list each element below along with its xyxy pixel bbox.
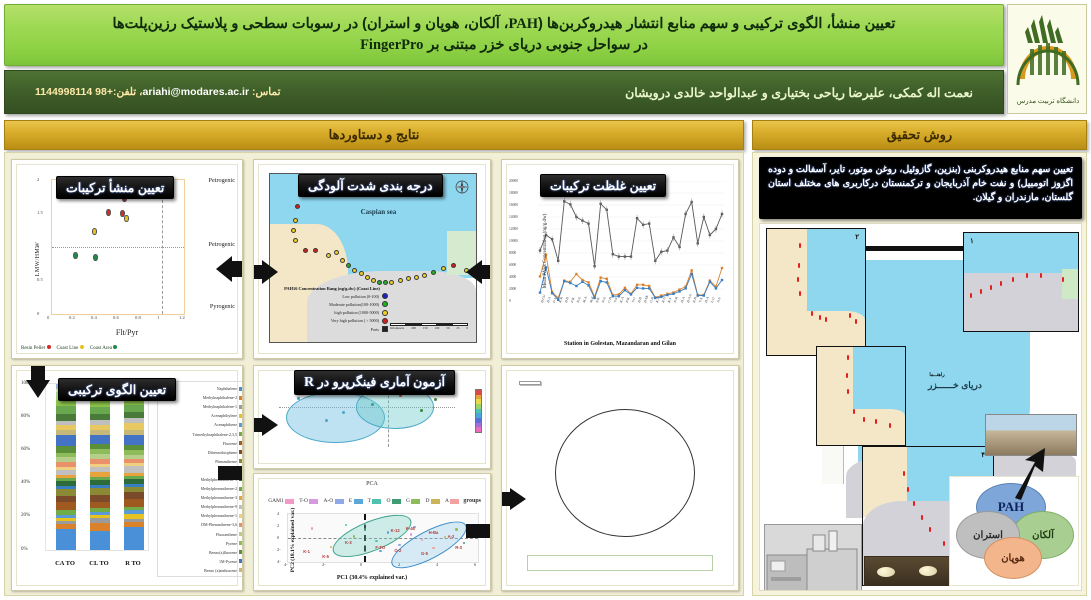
legend-label: G xyxy=(406,498,410,504)
legend-swatch xyxy=(382,293,388,299)
plaque-composition: تعیین الگوی ترکیبی xyxy=(58,378,176,401)
inset-number-1: ۱ xyxy=(970,237,974,245)
legend-swatch xyxy=(239,487,243,491)
y-tick: 40% xyxy=(21,480,30,485)
legend-label: 3-Methylphenanthrene xyxy=(201,495,237,500)
caspian-sea-label-fa: دریای خــــــزر xyxy=(928,380,982,391)
scatter-plot-area xyxy=(51,179,185,315)
x-tick: S-K xyxy=(595,297,600,303)
legend-item: 1-Methylphenanthrene xyxy=(159,511,243,520)
legend-item: Fluoranthene xyxy=(159,530,243,539)
map-legend-item: Ports xyxy=(276,326,388,332)
pca-annotation: A-2 xyxy=(448,534,455,539)
legend-label: Acenaphthene xyxy=(214,422,237,427)
legend-label: D xyxy=(425,498,429,504)
legend-label: Pyrene xyxy=(226,541,237,546)
scatter-point xyxy=(106,209,111,216)
legend-label: GAM1 xyxy=(268,498,284,504)
legend-swatch xyxy=(47,345,51,349)
bar-category-label: CA TO xyxy=(49,560,81,567)
pca-legend-item: GAM1 xyxy=(268,498,294,504)
poster-title-bar: تعیین منشأ، الگوی ترکیبی و سهم منابع انت… xyxy=(4,4,1004,66)
legend-label: Resin Pellet xyxy=(21,346,45,351)
legend-label: high pollution (1000-5000) xyxy=(334,310,379,315)
colorbar xyxy=(475,389,482,433)
pca-annotation: H-Ba xyxy=(429,530,439,535)
map-frame: Caspian sea PAH16 Concentration Rang (ng… xyxy=(269,173,477,343)
stacked-bar-plot-area xyxy=(45,383,149,551)
y-tick: 20% xyxy=(21,513,30,518)
bar-segment xyxy=(56,529,76,550)
x-tick: 1.2 xyxy=(179,315,185,320)
pca-point xyxy=(353,535,355,537)
x-tick: -4 xyxy=(284,562,288,567)
x-tick: H-A xyxy=(680,296,686,303)
bar-category-label: CL TO xyxy=(83,560,115,567)
map-legend-item: Low pollution (0-100) xyxy=(276,293,388,299)
compass-rose-icon xyxy=(454,179,470,195)
legend-item: Pyrene xyxy=(159,539,243,548)
legend-swatch xyxy=(239,541,243,545)
legend-label: Fluoranthene xyxy=(216,532,237,537)
y-tick: 18000 xyxy=(509,191,518,195)
method-description: تعیین سهم منابع هیدروکربنی (بنزین، گازوئ… xyxy=(759,157,1082,219)
legend-label: 1-Methylphenanthrene xyxy=(201,513,237,518)
y-tick: 16000 xyxy=(509,203,518,207)
x-tick: 4 xyxy=(436,562,438,567)
map-legend-item: high pollution (1000-5000) xyxy=(276,310,388,316)
map-station-dot xyxy=(377,280,382,285)
svg-text:دانشگاه تربیت مدرس: دانشگاه تربیت مدرس xyxy=(1017,96,1080,105)
inset-map-1: ۱ xyxy=(963,232,1079,332)
legend-label: O xyxy=(386,498,390,504)
pca-x-label: PC1 (30.4% explained var.) xyxy=(259,575,485,581)
y-tick: 2000 xyxy=(509,287,516,291)
y-tick: 4 xyxy=(277,511,279,516)
legend-item: 3-Methylphenanthrene xyxy=(159,493,243,502)
pca-plot-area: K-1K-5K-3K-12K-46H-BaA-2F-TOO-2G-5R-3 xyxy=(287,513,479,563)
y-tick: 80% xyxy=(21,414,30,419)
x-tick: K-A xyxy=(619,296,625,303)
legend-label: 9-Methylphenanthrene xyxy=(201,504,237,509)
legend-swatch xyxy=(382,318,388,324)
legend-swatch xyxy=(354,499,363,504)
arrow-right-icon xyxy=(253,260,278,284)
bar-segment xyxy=(90,401,110,408)
legend-swatch xyxy=(372,499,381,504)
page-title: تعیین منشأ، الگوی ترکیبی و سهم منابع انت… xyxy=(19,14,989,56)
legend-swatch xyxy=(80,345,84,349)
bar-segment xyxy=(90,407,110,414)
y-tick: 6000 xyxy=(509,263,516,267)
map-station-dot xyxy=(398,278,403,283)
x-tick: 0.6 xyxy=(113,315,119,320)
y-axis-label-conc: Mean PAHs Concentration (ng/g.dw) xyxy=(543,214,548,289)
y-tick: 60% xyxy=(21,447,30,452)
scalebar-tick: 100 xyxy=(435,326,440,330)
map-station-dot xyxy=(414,275,419,280)
stacked-bar xyxy=(124,384,144,550)
bar-segment xyxy=(124,435,144,445)
university-logo: دانشگاه تربیت مدرس xyxy=(1007,4,1087,114)
legend-item: 3,6-DM-Phenanthrene xyxy=(159,520,243,529)
x-tick: T-N xyxy=(613,297,618,303)
study-area-maps: دریای خــــــزر ۲ xyxy=(759,223,1082,591)
legend-label: A xyxy=(445,498,449,504)
bar-segment xyxy=(56,435,76,446)
pca-annotation: O-2 xyxy=(394,548,401,553)
scalebar-tick: 25 xyxy=(456,326,459,330)
bar-segment xyxy=(90,502,110,509)
pca-point xyxy=(410,533,412,535)
scalebar-tick: 0 xyxy=(466,326,468,330)
x-tick: 0 xyxy=(47,315,49,320)
legend-label: 1M-Pyrene xyxy=(219,559,237,564)
legend-label: 1-Methylnaphthalene xyxy=(203,404,237,409)
panel-composition-pattern: 0%20%40%60%80%100% CA TOCL TOR TO Naphth… xyxy=(11,365,243,591)
legend-label: Benzo(a)fluorene xyxy=(209,550,237,555)
map-legend-item: Very high pollution ( > 5000) xyxy=(276,318,388,324)
panel-r-statistical-test: آزمون آماری فینگرپرو در R xyxy=(253,365,491,469)
x-tick: N-O xyxy=(601,296,607,303)
arrow-right-icon-3 xyxy=(218,462,243,484)
map-region-legend: راهنــما xyxy=(910,372,964,378)
legend-item: 2-Methylphenanthrene xyxy=(159,484,243,493)
legend-item: Acenaphthene xyxy=(159,420,243,429)
arrow-right-icon-6 xyxy=(501,488,526,510)
map-station-dot xyxy=(365,275,370,280)
y-tick: 1.5 xyxy=(37,210,43,215)
legend-swatch xyxy=(239,568,243,572)
line-chart-svg xyxy=(537,181,725,301)
y-tick: 12000 xyxy=(509,227,518,231)
x-tick: H-A xyxy=(704,296,710,303)
map-station-dot xyxy=(303,248,308,253)
arrow-right-icon-5 xyxy=(466,520,491,542)
scalebar-tick: 150 xyxy=(423,326,428,330)
inset-map-3: ۳ xyxy=(816,346,906,446)
legend-item: Acenaphthylene xyxy=(159,411,243,420)
x-tick: M-R xyxy=(589,296,595,303)
legend-swatch xyxy=(309,499,318,504)
pie-chart xyxy=(555,409,695,537)
legend-swatch xyxy=(239,396,243,400)
scatter-point xyxy=(93,254,98,261)
map-legend-item: Moderate pollution(100-1000) xyxy=(276,301,388,307)
map-station-dot xyxy=(293,238,298,243)
scalebar-tick: 200 xyxy=(411,326,416,330)
bar-segment xyxy=(124,499,144,507)
arrow-left-icon-2 xyxy=(466,260,491,284)
legend-swatch xyxy=(239,423,243,427)
section-header-results: نتایج و دستاوردها xyxy=(4,120,744,150)
panel-pollution-map: Caspian sea PAH16 Concentration Rang (ng… xyxy=(253,159,491,359)
legend-swatch xyxy=(431,499,440,504)
colorbar-band xyxy=(476,427,481,432)
plaque-concentration: تعیین غلظت ترکیبات xyxy=(540,174,666,197)
panel-fingerpro-pie: تعیین سهم منابع هیدروکربن با FingerPro xyxy=(501,365,739,591)
pca-annotation: K-1 xyxy=(303,549,310,554)
pca-legend-item: E xyxy=(349,498,363,504)
legend-label: 2-Methylphenanthrene xyxy=(201,486,237,491)
line-plot-area xyxy=(537,181,725,301)
pca-legend-item: A xyxy=(445,498,459,504)
pca-annotation: G-5 xyxy=(421,551,428,556)
pca-annotation: K-5 xyxy=(322,554,329,559)
legend-swatch xyxy=(239,523,243,527)
pca-y-label: PC2 (18.1% explained var.) xyxy=(290,508,296,572)
legend-item: 1-Methylnaphthalene xyxy=(159,402,243,411)
legend-swatch xyxy=(335,499,344,504)
pca-annotation: K-3 xyxy=(345,540,352,545)
legend-label: Dibenzothiophene xyxy=(208,450,237,455)
legend-item: Dibenzothiophene xyxy=(159,448,243,457)
pca-point xyxy=(311,527,313,529)
legend-item: Fluorene xyxy=(159,439,243,448)
inset-map-2: ۲ xyxy=(766,228,866,356)
sea-label: Caspian sea xyxy=(361,208,397,216)
pca-point xyxy=(463,542,465,544)
bar-segment xyxy=(90,435,110,443)
y-tick: 0 xyxy=(277,535,279,540)
legend-label: T xyxy=(368,498,371,504)
pca-group-legend: groups ADGOTEA-OT-OGAM1 xyxy=(267,491,481,511)
pca-legend-item: D xyxy=(425,498,439,504)
y-tick: 14000 xyxy=(509,215,518,219)
map-station-dot xyxy=(340,258,345,263)
legend-swatch xyxy=(239,387,243,391)
legend-label: T-O xyxy=(299,498,308,504)
x-axis-label-conc: Station in Golestan, Mazandaran and Gila… xyxy=(507,341,733,347)
bar-segment xyxy=(56,406,76,414)
y-tick: 2 xyxy=(37,177,39,182)
scatter-point xyxy=(124,215,129,222)
legend-item: Chrysene + Triphenylene xyxy=(159,575,243,577)
legend-swatch xyxy=(382,301,388,307)
legend-item: Coast Area xyxy=(90,345,118,351)
contact-email[interactable]: ariahi@modares.ac.ir xyxy=(143,86,250,98)
y-tick: 0% xyxy=(21,547,28,552)
bar-segment xyxy=(90,523,110,531)
x-tick: -2 xyxy=(322,562,326,567)
legend-item: Benzo (a)anthracene xyxy=(159,566,243,575)
map-station-dot xyxy=(326,253,331,258)
panel-source-diagnostic: LMW/HMW Flt/Pyr Petrogenic Petrogenic Py… xyxy=(11,159,243,359)
pca-legend-item: T-O xyxy=(299,498,318,504)
pca-point xyxy=(387,531,389,533)
legend-item: 2,3,5-Trimethylnaphthalene xyxy=(159,429,243,438)
x-tick: 0.4 xyxy=(91,315,97,320)
y-tick: 0 xyxy=(509,299,511,303)
x-tick: T-A xyxy=(698,297,703,303)
map-station-dot xyxy=(431,270,436,275)
pca-title: PCA xyxy=(259,481,485,487)
x-tick: 1 xyxy=(157,315,159,320)
legend-swatch xyxy=(392,499,401,504)
y-tick: 4000 xyxy=(509,275,516,279)
y-tick: -4 xyxy=(277,559,281,564)
x-tick: P-K xyxy=(625,297,630,303)
legend-label: Naphthalene xyxy=(217,386,237,391)
legend-swatch xyxy=(382,310,388,316)
pca-annotation: R-3 xyxy=(455,545,462,550)
scatter-legend: Coast AreaCoast LineResin Pellet xyxy=(21,345,117,351)
map-scalebar: 02550100150200Kilometers xyxy=(390,323,468,330)
pca-point xyxy=(432,547,434,549)
x-axis-label: Flt/Pyr xyxy=(17,328,237,337)
legend-label: E xyxy=(349,498,352,504)
x-tick: B-B xyxy=(637,297,643,304)
pca-point xyxy=(379,550,381,552)
arrow-up-right-icon xyxy=(1013,448,1047,500)
legend-swatch xyxy=(239,514,243,518)
legend-swatch xyxy=(382,326,388,332)
results-column: LMW/HMW Flt/Pyr Petrogenic Petrogenic Py… xyxy=(4,152,744,596)
y-tick: -2 xyxy=(277,547,281,552)
mass-spectrometer-image xyxy=(764,524,862,591)
x-tick: 6 xyxy=(474,562,476,567)
legend-swatch xyxy=(113,345,117,349)
legend-label: Very high pollution ( > 5000) xyxy=(331,318,379,323)
legend-label: Acenaphthylene xyxy=(211,413,237,418)
pca-point xyxy=(455,528,457,530)
pca-legend-item: A-O xyxy=(323,498,343,504)
map-legend-title: PAH16 Concentration Rang (ng/g.dw) (Coas… xyxy=(276,286,388,292)
legend-swatch xyxy=(239,405,243,409)
legend-label: Fluorene xyxy=(223,441,237,446)
legend-swatch xyxy=(239,432,243,436)
legend-swatch xyxy=(239,505,243,509)
pca-point xyxy=(345,524,347,526)
plaque-source-diagnostic: تعیین منشأ ترکیبات xyxy=(56,176,174,199)
x-tick: R-H xyxy=(692,296,698,303)
y-tick: 0 xyxy=(37,311,39,316)
bar-segment xyxy=(90,531,110,549)
zone-label-petrogenic: Petrogenic xyxy=(209,241,235,248)
legend-swatch xyxy=(239,559,243,563)
section-header-method: روش تحقیق xyxy=(752,120,1087,150)
pca-legend-item: G xyxy=(406,498,420,504)
bar-category-label: R TO xyxy=(117,560,149,567)
pca-legend-item: O xyxy=(386,498,400,504)
y-tick: 1 xyxy=(37,244,39,249)
authors-list: نعمت اله کمکی، علیرضا ریاحی بختیاری و عب… xyxy=(625,85,973,100)
map-station-dot xyxy=(334,250,339,255)
legend-label: 2-Methylnaphthalene xyxy=(203,395,237,400)
x-tick: 0.8 xyxy=(135,315,141,320)
x-tick: B-A xyxy=(546,296,552,303)
legend-swatch xyxy=(239,532,243,536)
legend-swatch xyxy=(411,499,420,504)
x-tick: F-A xyxy=(552,297,557,303)
pca-annotation: F-TO xyxy=(375,545,385,550)
gof-badge xyxy=(519,381,541,385)
legend-swatch xyxy=(239,450,243,454)
resin-pellet-photo xyxy=(864,556,956,586)
y-tick: 20000 xyxy=(509,179,518,183)
pca-legend-item: T xyxy=(368,498,382,504)
legend-item: 9-Methylphenanthrene xyxy=(159,502,243,511)
legend-label: Low pollution (0-100) xyxy=(342,294,379,299)
x-tick: L-O xyxy=(710,297,716,304)
arrow-right-icon-4 xyxy=(253,414,278,436)
map-station-dot xyxy=(291,228,296,233)
y-tick: 10000 xyxy=(509,239,518,243)
legend-label: A-O xyxy=(323,498,333,504)
x-tick: C-H xyxy=(607,296,613,303)
legend-item: 1M-Pyrene xyxy=(159,557,243,566)
legend-swatch xyxy=(239,441,243,445)
legend-label: Coast Line xyxy=(57,346,79,351)
map-station-dot xyxy=(293,218,298,223)
x-tick: A-S xyxy=(716,297,721,303)
legend-label: Coast Area xyxy=(90,346,112,351)
legend-item: Resin Pellet xyxy=(21,345,51,351)
legend-item: Benzo(a)fluorene xyxy=(159,548,243,557)
y-tick: 0.5 xyxy=(37,277,43,282)
legend-swatch xyxy=(239,550,243,554)
legend-swatch xyxy=(239,496,243,500)
legend-swatch xyxy=(239,414,243,418)
x-tick: T-O xyxy=(631,297,636,303)
scatter-point xyxy=(92,228,97,235)
method-column: تعیین سهم منابع هیدروکربنی (بنزین، گازوئ… xyxy=(752,152,1087,596)
legend-swatch xyxy=(450,499,459,504)
legend-label: 2,3,5-Trimethylnaphthalene xyxy=(192,432,237,437)
y-tick: 2 xyxy=(277,523,279,528)
map-legend: PAH16 Concentration Rang (ng/g.dw) (Coas… xyxy=(276,286,388,332)
legend-label: Benzo (a)anthracene xyxy=(204,568,237,573)
stacked-bar xyxy=(56,384,76,550)
legend-label: 3,6-DM-Phenanthrene xyxy=(201,522,237,527)
poster-root: تعیین منشأ، الگوی ترکیبی و سهم منابع انت… xyxy=(0,0,1091,600)
x-tick: 0.2 xyxy=(69,315,75,320)
panel-concentration-chart: Mean PAHs Concentration (ng/g.dw) Statio… xyxy=(501,159,739,359)
bar-segment xyxy=(90,495,110,502)
arrow-left-icon xyxy=(216,256,243,282)
plaque-r-test: آزمون آماری فینگرپرو در R xyxy=(294,370,455,395)
legend-item: Coast Line xyxy=(57,345,84,351)
inset-number-2: ۲ xyxy=(855,233,859,241)
venn-circle-hopane: هوپان xyxy=(984,537,1042,579)
pie-legend xyxy=(527,555,713,571)
x-tick: 2 xyxy=(398,562,400,567)
authors-bar: نعمت اله کمکی، علیرضا ریاحی بختیاری و عب… xyxy=(4,70,1004,114)
y-tick: 8000 xyxy=(509,251,516,255)
plaque-pollution-grading: درجه بندی شدت آلودگی xyxy=(298,174,443,197)
bar-segment xyxy=(90,488,110,495)
scalebar-tick: 50 xyxy=(446,326,449,330)
panel-pca-biplot: PCA groups ADGOTEA-OT-OGAM1 K-1K-5K-3K-1… xyxy=(253,473,491,591)
pca-annotation: K-46 xyxy=(406,526,415,531)
legend-label: Ports xyxy=(371,327,379,332)
legend-label: Moderate pollution(100-1000) xyxy=(329,302,379,307)
zone-label-petrogenic-top: Petrogenic xyxy=(209,177,235,184)
bar-segment xyxy=(124,527,144,550)
scatter-point xyxy=(73,252,78,259)
map-station-dot xyxy=(295,204,300,209)
contact-info: تماس: ariahi@modares.ac.ir، تلفن:+98 114… xyxy=(35,86,281,98)
bar-segment xyxy=(56,502,76,510)
bar-segment xyxy=(90,414,110,421)
pca-point xyxy=(398,544,400,546)
scalebar-unit: Kilometers xyxy=(390,326,404,330)
legend-title-fa: راهنــما xyxy=(910,372,964,378)
pca-annotation: K-12 xyxy=(391,528,400,533)
arrow-down-icon xyxy=(26,365,50,398)
stacked-bar xyxy=(90,384,110,550)
x-tick: 0 xyxy=(360,562,362,567)
